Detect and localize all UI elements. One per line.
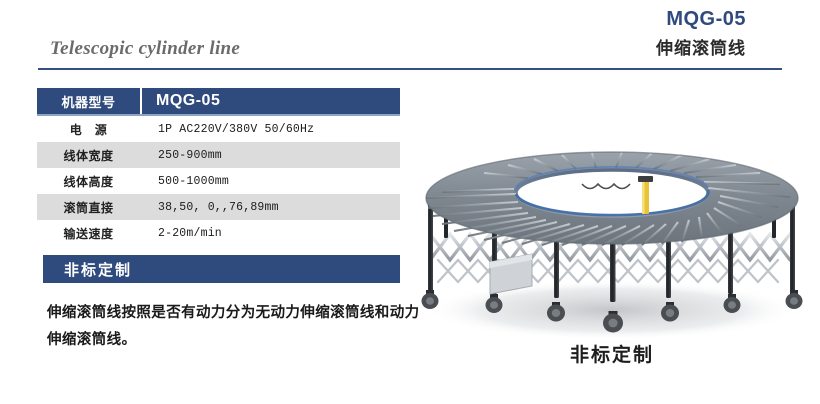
spec-table-row: 输送速度 2-20m/min (37, 220, 400, 246)
spec-value: 1P AC220V/380V 50/60Hz (140, 116, 400, 142)
spec-label: 机器型号 (37, 88, 140, 114)
spec-value: 500-1000mm (140, 168, 400, 194)
spec-label: 输送速度 (37, 220, 140, 246)
page-title-chinese: 伸缩滚筒线 (656, 34, 746, 59)
spec-table-header-row: 机器型号MQG-05 (37, 88, 400, 116)
page-title-english: Telescopic cylinder line (50, 38, 240, 60)
spec-table-row: 电 源1P AC220V/380V 50/60Hz (37, 116, 400, 142)
spec-table-row: 滚筒直接38,50, 0,,76,89mm (37, 194, 400, 220)
spec-table-row: 线体高度500-1000mm (37, 168, 400, 194)
spec-value: 38,50, 0,,76,89mm (140, 194, 400, 220)
model-code-heading: MQG-05 (666, 8, 746, 31)
spec-value: MQG-05 (142, 88, 400, 114)
spec-table-row: 线体宽度250-900mm (37, 142, 400, 168)
product-description: 伸缩滚筒线按照是否有动力分为无动力伸缩滚筒线和动力伸缩滚筒线。 (47, 300, 432, 354)
spec-label: 滚筒直接 (37, 194, 140, 220)
photo-caption: 非标定制 (404, 340, 820, 367)
spec-label: 电 源 (37, 116, 140, 142)
custom-order-banner: 非标定制 (37, 255, 400, 283)
product-photo (404, 142, 820, 342)
spec-value: 250-900mm (140, 142, 400, 168)
spec-label: 线体宽度 (37, 142, 140, 168)
specification-table: 机器型号MQG-05电 源1P AC220V/380V 50/60Hz线体宽度2… (37, 88, 400, 246)
header-divider-rule (38, 68, 782, 70)
banner-left-accent (37, 255, 43, 283)
page-header: Telescopic cylinder line MQG-05 伸缩滚筒线 (0, 0, 820, 72)
flexible-roller-conveyor-illustration (404, 142, 820, 342)
custom-order-banner-label: 非标定制 (64, 259, 132, 280)
spec-value: 2-20m/min (140, 220, 400, 246)
spec-label: 线体高度 (37, 168, 140, 194)
